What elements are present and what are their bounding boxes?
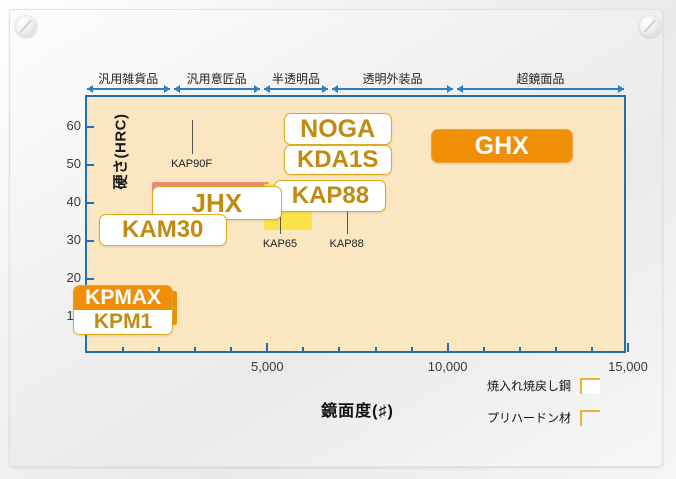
screw-icon-top-right	[639, 15, 661, 37]
screw-icon-top-left	[15, 15, 37, 37]
category-label-1: 汎用意匠品	[187, 70, 247, 87]
y-tick-label: 40	[57, 194, 81, 209]
callout-label-kap90f: KAP90F	[171, 158, 212, 170]
product-chip-noga[interactable]: NOGA	[284, 113, 392, 145]
y-tick-label: 60	[57, 118, 81, 133]
x-tick-mark	[483, 347, 485, 352]
screenshot-root: 汎用雑貨品汎用意匠品半透明品透明外装品超鏡面品 硬さ(HRC) 鏡面度(♯) 1…	[0, 0, 676, 479]
category-arrow-3	[332, 88, 452, 90]
legend-item-0: 焼入れ焼戻し鋼	[487, 377, 600, 394]
category-label-4: 超鏡面品	[516, 70, 564, 87]
callout-label-kap88: KAP88	[330, 238, 364, 250]
product-chip-kpmax-kpm1[interactable]: KPMAXKPM1	[73, 285, 173, 335]
x-tick-mark	[338, 347, 340, 352]
x-tick-mark	[555, 347, 557, 352]
category-arrow-4	[457, 88, 624, 90]
x-tick-mark	[302, 347, 304, 352]
x-tick-mark	[122, 347, 124, 352]
y-axis-label: 硬さ(HRC)	[110, 67, 131, 237]
product-chip-kap88[interactable]: KAP88	[274, 180, 386, 212]
x-tick-label: 5,000	[251, 359, 284, 374]
y-tick-mark	[87, 126, 94, 128]
x-tick-mark	[627, 343, 629, 352]
product-chip-kda1s[interactable]: KDA1S	[284, 145, 392, 175]
y-tick-label: 30	[57, 232, 81, 247]
category-band: 汎用雑貨品汎用意匠品半透明品透明外装品超鏡面品	[85, 70, 628, 96]
x-tick-mark	[519, 347, 521, 352]
x-tick-label: 15,000	[608, 359, 648, 374]
callout-label-kap65: KAP65	[263, 238, 297, 250]
y-tick-mark	[87, 240, 94, 242]
product-chip-ghx[interactable]: GHX	[431, 129, 573, 163]
legend-label-0: 焼入れ焼戻し鋼	[487, 377, 571, 394]
y-tick-label: 20	[57, 270, 81, 285]
y-tick-mark	[87, 278, 94, 280]
y-tick-label: 50	[57, 156, 81, 171]
x-tick-mark	[411, 347, 413, 352]
category-arrow-2	[264, 88, 329, 90]
y-tick-mark	[87, 202, 94, 204]
product-chip-kpm1: KPM1	[74, 310, 172, 334]
x-tick-label: 10,000	[428, 359, 468, 374]
legend-swatch-prehardened	[580, 410, 600, 426]
legend-swatch-hardened-steel	[580, 378, 600, 394]
category-label-2: 半透明品	[272, 70, 320, 87]
category-arrow-1	[174, 88, 260, 90]
product-chip-kam30[interactable]: KAM30	[99, 214, 227, 246]
legend-item-1: プリハードン材	[487, 409, 600, 426]
x-tick-mark	[230, 347, 232, 352]
callout-leader-line	[192, 120, 193, 154]
y-tick-mark	[87, 164, 94, 166]
legend-label-1: プリハードン材	[487, 409, 571, 426]
chart-plot-area: 硬さ(HRC) 鏡面度(♯) 1020304050605,00010,00015…	[85, 95, 626, 353]
category-label-3: 透明外装品	[362, 70, 422, 87]
x-tick-mark	[266, 343, 268, 352]
x-tick-mark	[158, 347, 160, 352]
x-tick-mark	[375, 347, 377, 352]
x-tick-mark	[194, 347, 196, 352]
x-tick-mark	[591, 347, 593, 352]
product-chip-kpmax: KPMAX	[74, 286, 172, 310]
x-tick-mark	[447, 343, 449, 352]
